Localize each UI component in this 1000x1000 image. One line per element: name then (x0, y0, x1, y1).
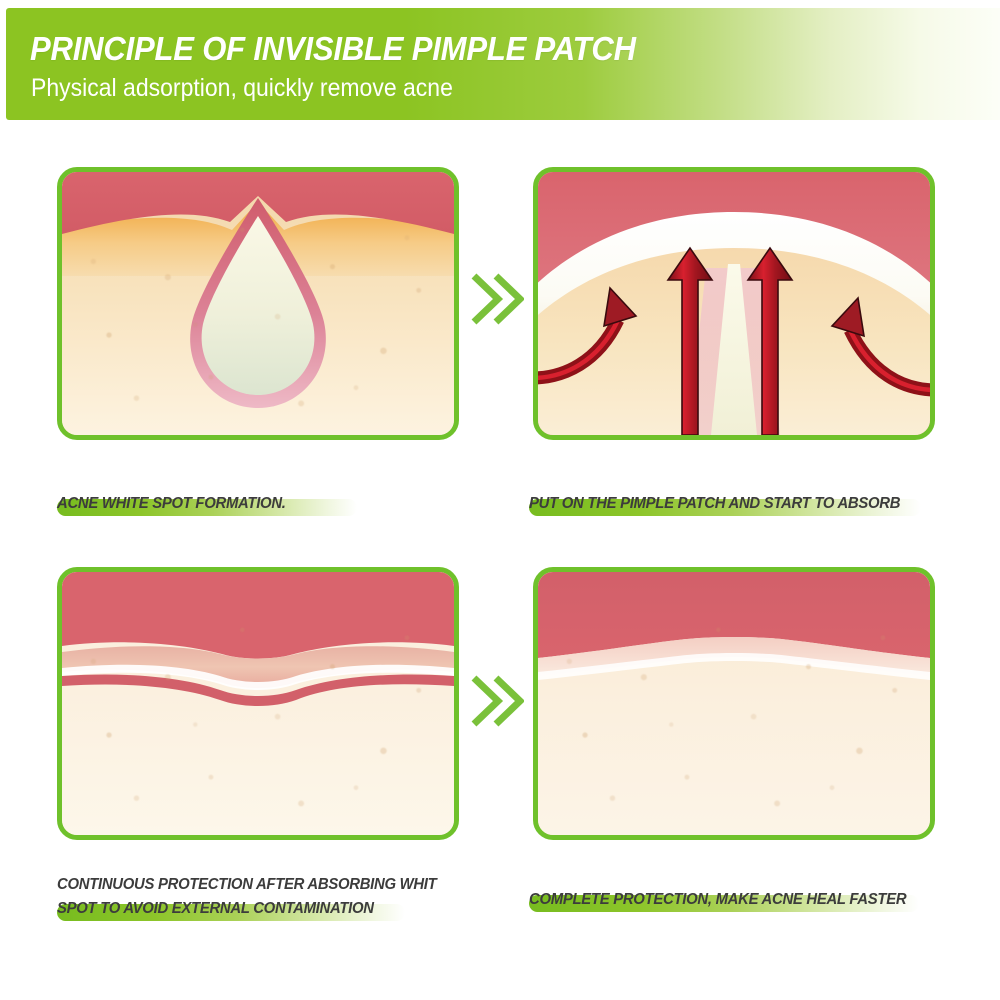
infographic-page: PRINCIPLE OF INVISIBLE PIMPLE PATCH Phys… (0, 0, 1000, 1000)
page-title: PRINCIPLE OF INVISIBLE PIMPLE PATCH (30, 30, 636, 68)
chevron-glyph (468, 670, 524, 732)
step-panel-2 (533, 167, 935, 440)
caption-text-line: CONTINUOUS PROTECTION AFTER ABSORBING WH… (57, 873, 436, 897)
caption-text-line: ACNE WHITE SPOT FORMATION. (57, 492, 286, 516)
illustration-protected-skin (62, 572, 454, 835)
illustration-patch-absorbing (538, 172, 930, 435)
step-panel-3 (57, 567, 459, 840)
illustration-acne-white-spot (62, 172, 454, 435)
step-caption-1: ACNE WHITE SPOT FORMATION. (57, 492, 295, 516)
step-caption-3: CONTINUOUS PROTECTION AFTER ABSORBING WH… (57, 873, 452, 921)
caption-text-line: COMPLETE PROTECTION, MAKE ACNE HEAL FAST… (529, 888, 906, 912)
chevron-glyph (468, 268, 524, 330)
page-subtitle: Physical adsorption, quickly remove acne (31, 74, 453, 103)
header-banner: PRINCIPLE OF INVISIBLE PIMPLE PATCH Phys… (6, 8, 1000, 120)
step-caption-2: PUT ON THE PIMPLE PATCH AND START TO ABS… (529, 492, 916, 516)
caption-text-line: PUT ON THE PIMPLE PATCH AND START TO ABS… (529, 492, 900, 516)
step-panel-1 (57, 167, 459, 440)
illustration-healed-skin (538, 572, 930, 835)
caption-text-line: SPOT TO AVOID EXTERNAL CONTAMINATION (57, 897, 436, 921)
step-panel-4 (533, 567, 935, 840)
double-chevron-right-icon (468, 670, 524, 732)
double-chevron-right-icon (468, 268, 524, 330)
step-caption-4: COMPLETE PROTECTION, MAKE ACNE HEAL FAST… (529, 888, 922, 912)
